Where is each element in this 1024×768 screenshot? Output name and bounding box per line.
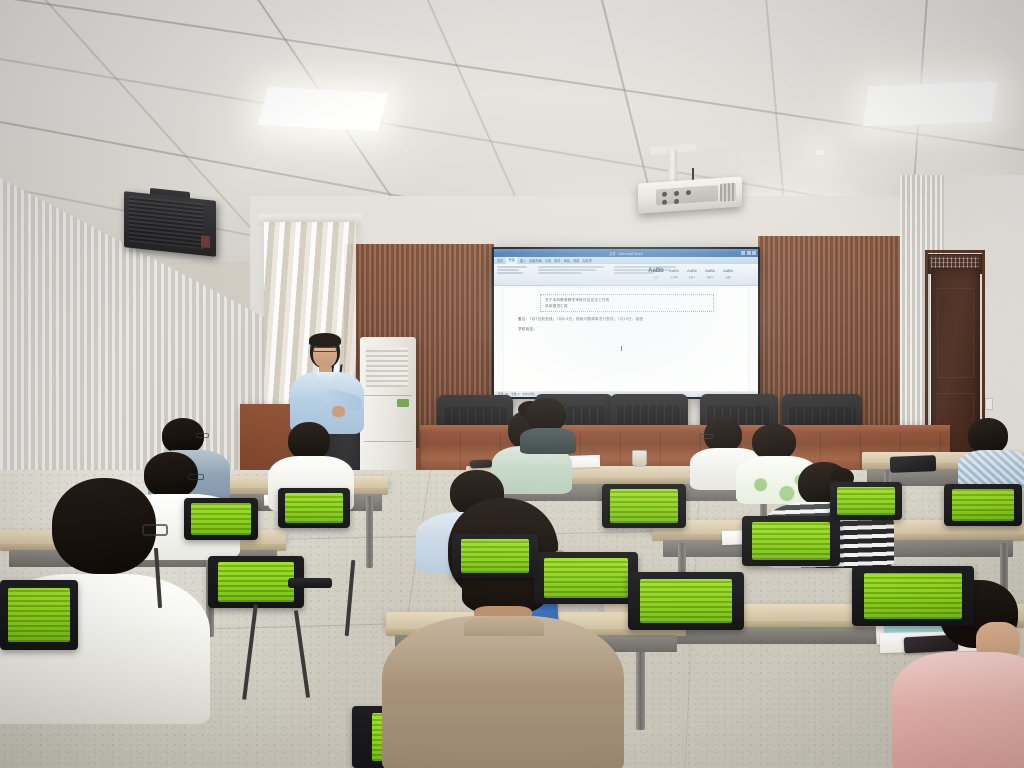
phone-row1 [470, 459, 492, 468]
word-ribbon-tabs[interactable]: 文件 开始 插入 页面布局 引用 邮件 审阅 视图 加载项 [494, 257, 758, 264]
word-style-gallery[interactable]: AaBb 正文 AaBb 无间隔 AaBb 标题 1 AaBb 标题 2 [648, 267, 736, 279]
classroom-photo: 文件 - Microsoft Word 文件 开始 插入 页面布局 引用 邮件 … [0, 0, 1024, 768]
collar [464, 616, 544, 636]
desk-leg [366, 496, 373, 568]
torso-khaki [382, 616, 624, 768]
chair-right-5[interactable] [830, 482, 902, 520]
presenter [288, 334, 366, 434]
head [968, 418, 1008, 454]
word-window-title: 文件 - Microsoft Word [609, 251, 643, 256]
glasses [142, 524, 168, 536]
chair-left-1[interactable] [184, 498, 258, 540]
glasses [196, 433, 209, 438]
ribbon-tab-5[interactable]: 邮件 [554, 258, 560, 263]
audience-p8 [520, 398, 574, 450]
audience-p12 [962, 418, 1024, 484]
ceiling-light-2 [863, 82, 997, 126]
head [52, 478, 156, 574]
style-item-0[interactable]: AaBb 正文 [648, 267, 664, 279]
doc-body-line-0: 备注：7月7日前完成；7月8-9日；按新问题清单进行整改；7月10日，接受 [518, 316, 734, 322]
style-item-4[interactable]: AaBb 标题 [720, 267, 736, 279]
text-cursor [621, 346, 622, 351]
ribbon-tab-2[interactable]: 插入 [520, 258, 526, 263]
chair-center-3[interactable] [452, 534, 538, 578]
style-item-2[interactable]: AaBb 标题 1 [684, 267, 700, 279]
ceiling-light-5 [816, 150, 824, 155]
torso-pink [892, 652, 1024, 768]
torso [520, 428, 576, 454]
presenter-hand [332, 406, 345, 417]
chair-left-2[interactable] [208, 556, 304, 608]
ribbon-tab-7[interactable]: 视图 [573, 258, 579, 263]
document-title-box: 关于本科教育教学审核评估迎评工作的 总体推进汇报 [540, 294, 714, 312]
ribbon-tab-3[interactable]: 页面布局 [529, 258, 542, 263]
window-controls[interactable] [741, 251, 756, 255]
chair-left-3[interactable] [0, 580, 78, 650]
presenter-glasses [313, 347, 337, 352]
ribbon-tab-0[interactable]: 文件 [497, 258, 503, 263]
head [526, 398, 566, 432]
wall-speaker [124, 191, 216, 257]
status-words: 字数: 0 [511, 392, 519, 396]
style-item-1[interactable]: AaBb 无间隔 [666, 267, 682, 279]
chair-right-1[interactable] [628, 572, 744, 630]
chair-center-1[interactable] [534, 552, 638, 604]
document-page[interactable]: 关于本科教育教学审核评估迎评工作的 总体推进汇报 备注：7月7日前完成；7月8-… [504, 288, 748, 391]
chair-right-3[interactable] [852, 566, 974, 626]
head [288, 422, 330, 460]
chair-center-2[interactable] [602, 484, 686, 528]
chair-right-2[interactable] [742, 516, 840, 566]
doc-boxed-line-1: 总体推进汇报 [545, 303, 709, 309]
projection-screen: 文件 - Microsoft Word 文件 开始 插入 页面布局 引用 邮件 … [492, 247, 760, 399]
status-language: 中文(中国) [522, 392, 534, 396]
ribbon-tab-4[interactable]: 引用 [545, 258, 551, 263]
head [752, 424, 796, 460]
chair-right-4[interactable] [944, 484, 1022, 526]
light-switch[interactable] [985, 398, 993, 410]
laptop-bag [890, 455, 937, 473]
word-document-canvas[interactable]: 关于本科教育教学审核评估迎评工作的 总体推进汇报 备注：7月7日前完成；7月8-… [494, 286, 758, 397]
drink-cup [632, 450, 647, 467]
style-item-3[interactable]: AaBb 标题 2 [702, 267, 718, 279]
ceiling-light-1 [257, 87, 388, 131]
doc-body-line-1: 学校检查。 [518, 326, 734, 332]
presenter-hair [309, 333, 341, 347]
audience-p13 [904, 626, 1024, 768]
word-ribbon[interactable]: AaBb 正文 AaBb 无间隔 AaBb 标题 1 AaBb 标题 2 [494, 264, 758, 286]
ribbon-tab-8[interactable]: 加载项 [582, 258, 592, 263]
chair-left-4[interactable] [278, 488, 350, 528]
ribbon-tab-6[interactable]: 审阅 [564, 258, 570, 263]
word-title-bar: 文件 - Microsoft Word [494, 249, 758, 257]
air-conditioner [360, 337, 416, 487]
ribbon-tab-1[interactable]: 开始 [506, 257, 516, 264]
glasses [700, 434, 713, 439]
